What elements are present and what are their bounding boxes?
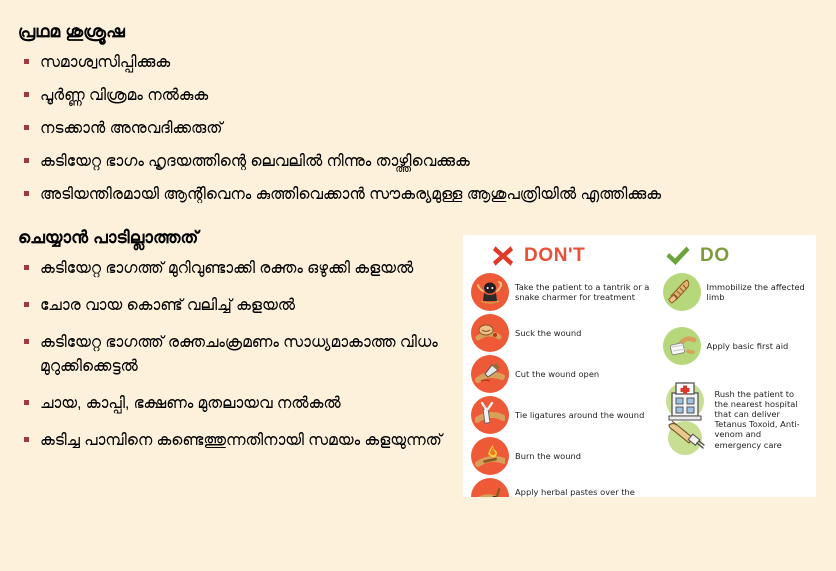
bullet-square-icon [24, 400, 29, 405]
list-item-label: Take the patient to a tantrik or a snake… [515, 282, 657, 302]
list-item-label: കടിയേറ്റ ഭാഗം ഹൃദയത്തിന്റെ ലെവലിൽ നിന്നു… [40, 150, 828, 174]
bullet-square-icon [24, 92, 29, 97]
list-item: Immobilize the affected limb [663, 273, 808, 311]
bullet-square-icon [24, 59, 29, 64]
dont-section-heading: ചെയ്യാൻ പാടില്ലാത്തത് [18, 228, 199, 248]
list-item: Rush the patient to the nearest hospital… [663, 381, 808, 457]
do-title: DO [700, 245, 730, 267]
list-item: ചോര വായ കൊണ്ട് വലിച്ച് കളയൽ [18, 294, 448, 318]
list-item: Cut the wound open [471, 355, 657, 393]
list-item-label: ചോര വായ കൊണ്ട് വലിച്ച് കളയൽ [40, 294, 448, 318]
list-item: Take the patient to a tantrik or a snake… [471, 273, 657, 311]
list-item-label: Tie ligatures around the wound [515, 410, 644, 420]
dont-item-column: Take the patient to a tantrik or a snake… [471, 273, 657, 491]
list-item: Suck the wound [471, 314, 657, 352]
list-item: കടിയേറ്റ ഭാഗത്ത് രക്തചംക്രമണം സാധ്യമാകാത… [18, 331, 448, 379]
green-check-icon [665, 245, 691, 267]
first-aid-list: സമാശ്വസിപ്പിക്കുക പൂർണ്ണ വിശ്രമം നൽകുക ന… [18, 51, 828, 216]
do-column-header: DO [657, 245, 807, 267]
list-item: സമാശ്വസിപ്പിക്കുക [18, 51, 828, 75]
snake-charmer-icon [471, 273, 509, 311]
list-item-label: നടക്കാൻ അനുവദിക്കരുത് [40, 117, 828, 141]
list-item: കടിച്ച പാമ്പിനെ കണ്ടെത്തുന്നതിനായി സമയം … [18, 429, 448, 453]
list-item-label: ചായ, കാപ്പി, ഭക്ഷണം മുതലായവ നൽകൽ [40, 392, 448, 416]
slide-canvas: പ്രഥമ ശുശ്രൂഷ സമാശ്വസിപ്പിക്കുക പൂർണ്ണ വ… [0, 0, 836, 571]
bullet-square-icon [24, 437, 29, 442]
list-item-label: Suck the wound [515, 328, 581, 338]
red-x-icon [491, 244, 515, 268]
list-item: നടക്കാൻ അനുവദിക്കരുത് [18, 117, 828, 141]
bandage-icon [663, 327, 701, 365]
tie-ligature-icon [471, 396, 509, 434]
bullet-square-icon [24, 265, 29, 270]
bullet-square-icon [24, 191, 29, 196]
dont-list: കടിയേറ്റ ഭാഗത്ത് മുറിവുണ്ടാക്കി രക്തം ഒഴ… [18, 257, 448, 466]
splint-limb-icon [663, 273, 701, 311]
dont-title: DON'T [524, 245, 585, 267]
list-item: Tie ligatures around the wound [471, 396, 657, 434]
list-item: കടിയേറ്റ ഭാഗത്ത് മുറിവുണ്ടാക്കി രക്തം ഒഴ… [18, 257, 448, 281]
hospital-syringe-icon [663, 381, 709, 457]
do-item-column: Immobilize the affected limb Apply basic… [657, 273, 808, 491]
burn-wound-icon [471, 437, 509, 475]
dont-column-header: DON'T [471, 244, 657, 268]
list-item: കടിയേറ്റ ഭാഗം ഹൃദയത്തിന്റെ ലെവലിൽ നിന്നു… [18, 150, 828, 174]
suck-wound-icon [471, 314, 509, 352]
bullet-square-icon [24, 302, 29, 307]
list-item: Burn the wound [471, 437, 657, 475]
list-item-label: കടിച്ച പാമ്പിനെ കണ്ടെത്തുന്നതിനായി സമയം … [40, 429, 448, 453]
infographic-header: DON'T DO [471, 241, 808, 271]
snakebite-dont-do-infographic: DON'T DO [463, 235, 816, 497]
list-item: അടിയന്തിരമായി ആന്റിവെനം കുത്തിവെക്കാൻ സൗ… [18, 183, 828, 207]
infographic-body: Take the patient to a tantrik or a snake… [471, 273, 808, 491]
list-item-label: Burn the wound [515, 451, 581, 461]
list-item-label: കടിയേറ്റ ഭാഗത്ത് മുറിവുണ്ടാക്കി രക്തം ഒഴ… [40, 257, 448, 281]
bullet-square-icon [24, 125, 29, 130]
list-item-label: അടിയന്തിരമായി ആന്റിവെനം കുത്തിവെക്കാൻ സൗ… [40, 183, 828, 207]
list-item-label: കടിയേറ്റ ഭാഗത്ത് രക്തചംക്രമണം സാധ്യമാകാത… [40, 331, 448, 379]
list-item-label: Immobilize the affected limb [707, 282, 808, 302]
list-item-label: Rush the patient to the nearest hospital… [715, 381, 808, 450]
list-item: Apply herbal pastes over the wound [471, 478, 657, 497]
list-item-label: Apply herbal pastes over the wound [515, 487, 657, 497]
list-item: ചായ, കാപ്പി, ഭക്ഷണം മുതലായവ നൽകൽ [18, 392, 448, 416]
list-item-label: സമാശ്വസിപ്പിക്കുക [40, 51, 828, 75]
list-item-label: Apply basic first aid [707, 341, 789, 351]
first-aid-heading: പ്രഥമ ശുശ്രൂഷ [18, 22, 125, 42]
list-item: പൂർണ്ണ വിശ്രമം നൽകുക [18, 84, 828, 108]
list-item-label: പൂർണ്ണ വിശ്രമം നൽകുക [40, 84, 828, 108]
list-item: Apply basic first aid [663, 327, 808, 365]
bullet-square-icon [24, 339, 29, 344]
bullet-square-icon [24, 158, 29, 163]
cut-wound-icon [471, 355, 509, 393]
list-item-label: Cut the wound open [515, 369, 599, 379]
herbal-paste-icon [471, 478, 509, 497]
